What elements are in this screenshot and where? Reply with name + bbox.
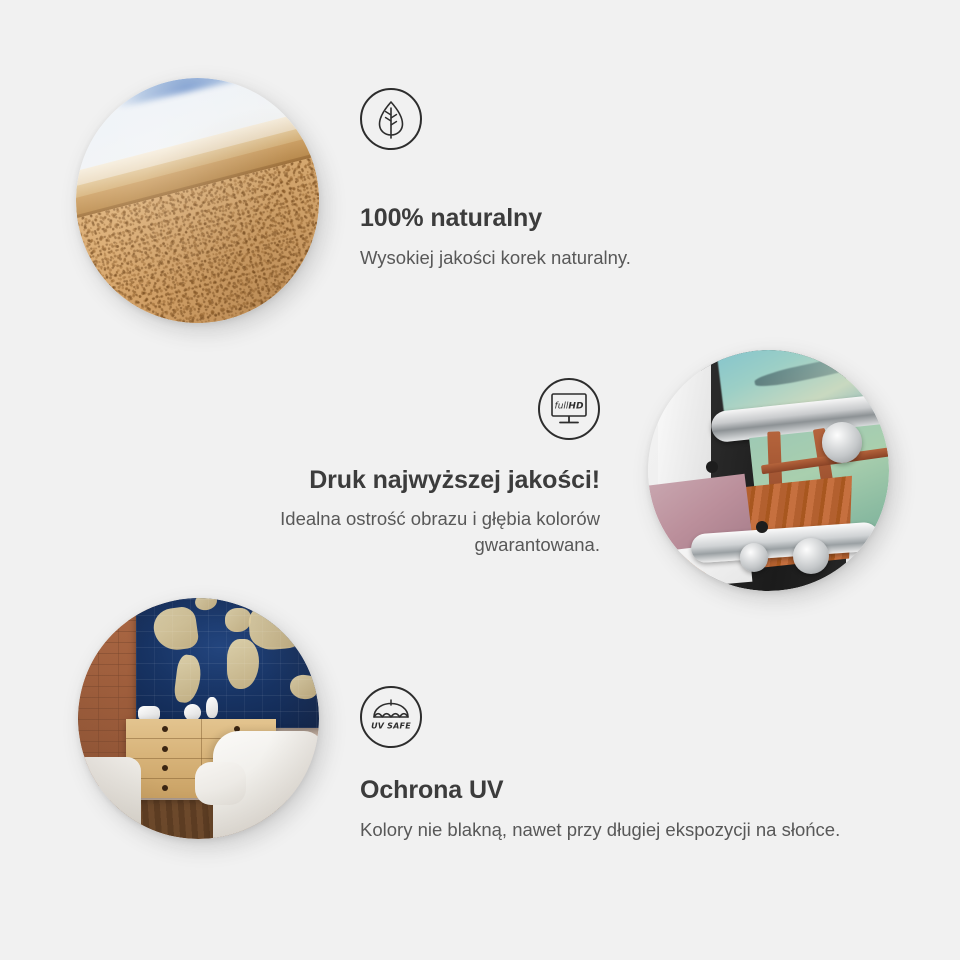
feature-showcase: 100% naturalny Wysokiej jakości korek na…	[0, 0, 960, 960]
feature-block-print: fullHD Druk najwyższej jakości! Idealna …	[160, 378, 600, 559]
cork-shading-overlay	[76, 78, 319, 323]
uv-safe-icon-label: UV SAFE	[371, 722, 411, 731]
feature-title: Druk najwyższej jakości!	[160, 466, 600, 495]
feature-description: Kolory nie blakną, nawet przy długiej ek…	[360, 817, 860, 843]
feature-title: Ochrona UV	[360, 776, 860, 805]
feature-block-natural: 100% naturalny Wysokiej jakości korek na…	[360, 88, 631, 271]
printing-machine-photo	[648, 350, 889, 591]
feature-description: Wysokiej jakości korek naturalny.	[360, 245, 631, 271]
feature-block-uv: UV SAFE Ochrona UV Kolory nie blakną, na…	[360, 686, 860, 843]
uv-safe-umbrella-icon: UV SAFE	[360, 686, 422, 748]
printer-wheel	[740, 543, 769, 572]
cork-photo-inner	[76, 78, 319, 323]
interior-vignette-overlay	[78, 598, 319, 839]
interior-photo-inner	[78, 598, 319, 839]
fullhd-label-full: full	[555, 402, 569, 412]
printer-wheel	[793, 538, 829, 574]
feature-description: Idealna ostrość obrazu i głębia kolorów …	[160, 506, 600, 559]
printer-photo-inner	[648, 350, 889, 591]
fullhd-icon-label: fullHD	[555, 402, 584, 412]
feature-title: 100% naturalny	[360, 204, 631, 233]
leaf-icon	[360, 88, 422, 150]
cork-board-closeup-photo	[76, 78, 319, 323]
interior-world-map-photo	[78, 598, 319, 839]
fullhd-label-hd: HD	[568, 402, 584, 412]
fullhd-monitor-icon: fullHD	[538, 378, 600, 440]
printer-knob	[706, 461, 718, 473]
